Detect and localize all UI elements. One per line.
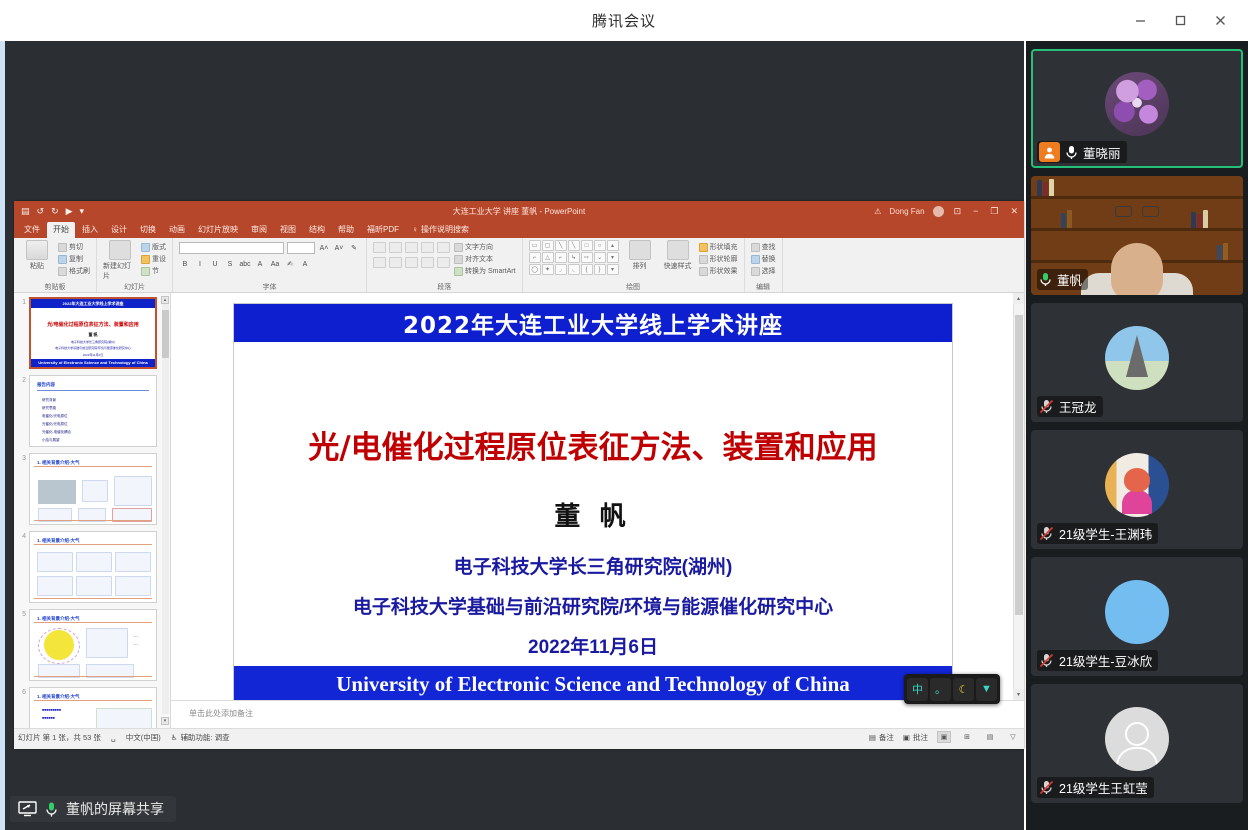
decrease-font-size-icon[interactable]: A˅ — [333, 242, 345, 254]
find-button[interactable]: 查找 — [751, 242, 776, 252]
cut-button[interactable]: 剪切 — [58, 242, 90, 252]
participant-name-row: 21级学生-豆冰欣 — [1037, 650, 1158, 671]
thumb-heading: 报告内容 — [37, 382, 55, 388]
font-color-button[interactable]: A — [299, 258, 311, 270]
tray-button[interactable]: ▼ — [976, 678, 997, 701]
slide-count-label: 幻灯片 第 1 张，共 53 张 — [18, 732, 101, 743]
shape-scroll-down-icon[interactable]: ▾ — [607, 252, 619, 263]
close-icon[interactable] — [1200, 4, 1240, 38]
align-left-icon[interactable] — [373, 257, 386, 268]
shape-circle-icon[interactable]: ◯ — [529, 264, 541, 275]
thumb-author: 董 帆 — [31, 332, 155, 338]
slide-thumbnail-5[interactable]: 1. 相关背景介绍-大气 --- --- — [29, 609, 157, 681]
tab-animations[interactable]: 动画 — [163, 222, 191, 238]
justify-icon[interactable] — [421, 257, 434, 268]
slide-affiliation-1[interactable]: 电子科技大学长三角研究院(湖州) — [234, 552, 952, 579]
glasses-icon — [1115, 206, 1159, 217]
comments-button[interactable]: ▣ 批注 — [903, 732, 928, 743]
slide-thumbnail-3[interactable]: 1. 相关背景介绍-大气 — [29, 453, 157, 525]
slide-thumbnail-6[interactable]: 1. 相关背景介绍-大气 ■■■■■■■■■ ■■■■■■ ■■■■■■■ — [29, 687, 157, 728]
thumb-affiliation-2: 电子科技大学基础与前沿研究院/环境与能源催化研究中心 — [31, 346, 155, 350]
slide-number: 5 — [16, 609, 26, 618]
powerpoint-document-title: 大连工业大学 讲座 董帆 - PowerPoint — [14, 206, 1024, 217]
clear-formatting-icon[interactable]: ✎ — [348, 242, 360, 254]
shape-square-icon[interactable]: □ — [581, 240, 593, 251]
scroll-up-arrow-icon[interactable]: ▴ — [1013, 293, 1024, 304]
participant-name-row: 董晓丽 — [1037, 141, 1127, 163]
tab-foxit-pdf[interactable]: 福昕PDF — [361, 222, 405, 238]
convert-smartart-button[interactable]: 转换为 SmartArt — [454, 266, 516, 276]
line-spacing-icon[interactable] — [437, 242, 450, 253]
ime-toolbar[interactable]: 中 。 ☾ ▼ — [904, 674, 1000, 704]
microphone-muted-icon — [1039, 399, 1054, 414]
tell-me-search[interactable]: ♀ 操作说明搜索 — [406, 222, 475, 238]
new-slide-icon — [109, 240, 131, 260]
ribbon-tabs: 文件 开始 插入 设计 切换 动画 幻灯片放映 审阅 视图 结构 帮助 福昕PD… — [14, 221, 1024, 238]
section-icon — [141, 267, 150, 276]
powerpoint-titlebar: ▤ ↺ ↻ ▶ ▾ 大连工业大学 讲座 董帆 - PowerPoint ⚠ Do… — [14, 201, 1024, 221]
copy-icon — [58, 255, 67, 264]
save-icon[interactable]: ▤ — [21, 206, 30, 217]
participant-tile-3[interactable]: 21级学生-王渊玮 — [1031, 430, 1243, 549]
accessibility-icon: ♿ — [171, 733, 178, 742]
shape-chevron-icon[interactable]: ⌄ — [594, 252, 606, 263]
slide-number: 1 — [16, 297, 26, 306]
paste-button[interactable]: 粘贴 — [20, 240, 54, 271]
ribbon-group-paragraph: 文字方向 对齐文本 转换为 SmartArt 段落 — [367, 238, 523, 292]
quick-styles-button[interactable]: 快速样式 — [661, 240, 695, 271]
copy-button[interactable]: 复制 — [58, 254, 90, 264]
shape-arc-icon[interactable]: ◟ — [568, 264, 580, 275]
powerpoint-body: 1 2022年大连工业大学线上学术讲座 光/电催化过程原位表征方法、装置和应用 … — [14, 293, 1024, 728]
tab-insert[interactable]: 插入 — [76, 222, 104, 238]
shape-brace-right-icon[interactable]: } — [594, 264, 606, 275]
tab-help[interactable]: 帮助 — [332, 222, 360, 238]
ribbon-group-font: A˄ A˅ ✎ B I U S abc A Aa — [173, 238, 367, 292]
select-button[interactable]: 选择 — [751, 266, 776, 276]
notes-placeholder[interactable]: 单击此处添加备注 — [171, 700, 1024, 728]
thumb-affiliation-1: 电子科技大学长三角研究院(湖州) — [31, 340, 155, 344]
slide-sorter-icon[interactable]: ⊞ — [960, 731, 974, 743]
shape-more-icon[interactable]: ▾ — [607, 264, 619, 275]
participant-name: 董晓丽 — [1083, 143, 1121, 162]
thumb-line: 小结与展望 — [42, 438, 60, 443]
powerpoint-titlebar-right: ⚠ Dong Fan ⊡ − ❐ ✕ — [874, 206, 1020, 217]
increase-font-size-icon[interactable]: A˄ — [318, 242, 330, 254]
notes-icon: ▤ — [869, 733, 876, 742]
shape-arrow-icon[interactable]: ╲ — [568, 240, 580, 251]
search-icon — [751, 243, 760, 252]
app-title: 腾讯会议 — [592, 10, 656, 31]
format-painter-button[interactable]: 格式刷 — [58, 266, 90, 276]
participant-name: 董帆 — [1057, 270, 1082, 289]
avatar — [1105, 707, 1169, 771]
warning-icon: ⚠ — [874, 207, 881, 216]
columns-icon[interactable] — [437, 257, 450, 268]
ribbon-group-label: 剪贴板 — [14, 282, 96, 292]
avatar — [1105, 326, 1169, 390]
align-center-icon[interactable] — [389, 257, 402, 268]
participant-tile-5[interactable]: 21级学生王虹莹 — [1031, 684, 1243, 803]
shape-bracket-icon[interactable]: ⌐ — [555, 252, 567, 263]
ribbon-group-label: 绘图 — [523, 282, 744, 292]
participant-name: 王冠龙 — [1059, 397, 1097, 416]
align-text-button[interactable]: 对齐文本 — [454, 254, 516, 264]
participant-name-row: 董帆 — [1037, 269, 1088, 290]
minimize-icon[interactable]: − — [971, 206, 980, 216]
scroll-down-arrow-icon[interactable]: ▾ — [161, 717, 169, 725]
paste-icon — [26, 240, 48, 260]
participant-tile-2[interactable]: 王冠龙 — [1031, 303, 1243, 422]
replace-icon — [751, 255, 760, 264]
reading-view-icon[interactable]: ▤ — [983, 731, 997, 743]
shape-rect-icon[interactable]: ▭ — [529, 240, 541, 251]
underline-button[interactable]: U — [209, 258, 221, 270]
shape-scroll-up-icon[interactable]: ▴ — [607, 240, 619, 251]
lightbulb-icon: ♀ — [412, 225, 418, 234]
maximize-icon[interactable] — [1160, 4, 1200, 38]
thumbnail-row[interactable]: 2 报告内容 研究背景 研究思路 电催化/光电原位 光催化/光电原位 光催化-电… — [16, 375, 168, 447]
slide-date[interactable]: 2022年11月6日 — [234, 632, 952, 659]
arrange-icon — [629, 240, 651, 260]
window-controls — [1120, 0, 1240, 41]
participant-tile-1[interactable]: 董帆 — [1031, 176, 1243, 295]
host-badge — [1039, 142, 1060, 162]
thumb-banner-bottom: University of Electronic Science and Tec… — [31, 359, 155, 367]
shared-screen-stage: ▤ ↺ ↻ ▶ ▾ 大连工业大学 讲座 董帆 - PowerPoint ⚠ Do… — [5, 41, 1024, 830]
microphone-muted-icon — [1039, 526, 1054, 541]
thumb-line: 研究思路 — [42, 406, 56, 411]
powerpoint-window: ▤ ↺ ↻ ▶ ▾ 大连工业大学 讲座 董帆 - PowerPoint ⚠ Do… — [14, 201, 1024, 749]
microphone-on-icon — [1039, 272, 1052, 287]
slide-banner-bottom: University of Electronic Science and Tec… — [234, 666, 952, 702]
new-slide-button[interactable]: 新建幻灯片 — [103, 240, 137, 281]
thumb-line: 电催化/光电原位 — [42, 414, 67, 419]
ribbon: 粘贴 剪切 复制 格式刷 剪贴板 — [14, 238, 1024, 293]
shape-outline-icon — [699, 255, 708, 264]
slide-author-text[interactable]: 董 帆 — [234, 496, 952, 533]
screen-share-badge: 董帆的屏幕共享 — [10, 796, 176, 822]
punctuation-mode-button[interactable]: 。 — [930, 678, 951, 701]
participant-tile-4[interactable]: 21级学生-豆冰欣 — [1031, 557, 1243, 676]
slide-thumbnail-1[interactable]: 2022年大连工业大学线上学术讲座 光/电催化过程原位表征方法、装置和应用 董 … — [29, 297, 157, 369]
restore-icon[interactable]: ❐ — [988, 206, 1000, 217]
shape-corner-icon[interactable]: ⌐ — [529, 252, 541, 263]
participant-name-row: 21级学生王虹莹 — [1037, 777, 1154, 798]
undo-icon[interactable]: ↺ — [37, 206, 45, 217]
spellcheck-icon[interactable]: ␣ — [111, 733, 116, 742]
slide-number: 4 — [16, 531, 26, 540]
increase-indent-icon[interactable] — [421, 242, 434, 253]
notes-button[interactable]: ▤ 备注 — [869, 732, 894, 743]
tab-file[interactable]: 文件 — [18, 222, 46, 238]
shape-curve-icon[interactable]: ◞ — [555, 264, 567, 275]
shape-bent-arrow-icon[interactable]: ↳ — [568, 252, 580, 263]
ribbon-group-label: 幻灯片 — [97, 282, 172, 292]
tab-view[interactable]: 视图 — [274, 222, 302, 238]
shadow-button[interactable]: S — [224, 258, 236, 270]
slide-thumbnail-4[interactable]: 1. 相关背景介绍-大气 — [29, 531, 157, 603]
slide-pane-scrollbar[interactable] — [1013, 293, 1024, 700]
tab-slideshow[interactable]: 幻灯片放映 — [192, 222, 244, 238]
screen-share-icon — [18, 801, 37, 817]
slide-title-text[interactable]: 光/电催化过程原位表征方法、装置和应用 — [234, 422, 952, 467]
thumbnail-row[interactable]: 1 2022年大连工业大学线上学术讲座 光/电催化过程原位表征方法、装置和应用 … — [16, 297, 168, 369]
shape-effects-button[interactable]: 形状效果 — [699, 266, 738, 276]
account-name[interactable]: Dong Fan — [889, 207, 924, 216]
participant-name: 21级学生王虹莹 — [1059, 778, 1148, 797]
slide-thumbnail-panel[interactable]: 1 2022年大连工业大学线上学术讲座 光/电催化过程原位表征方法、装置和应用 … — [14, 293, 171, 728]
slide-number: 3 — [16, 453, 26, 462]
shape-line-icon[interactable]: ╲ — [555, 240, 567, 251]
shape-right-arrow-icon[interactable]: ⇨ — [581, 252, 593, 263]
shape-triangle-icon[interactable]: △ — [542, 252, 554, 263]
ribbon-group-drawing: ▭ ▢ ╲ ╲ □ ○ ▴ ⌐ △ ⌐ ↳ ⇨ ⌄ — [523, 238, 745, 292]
start-slideshow-icon[interactable]: ▶ — [66, 206, 73, 217]
microphone-on-icon — [44, 801, 59, 818]
smartart-icon — [454, 267, 463, 276]
character-spacing-button[interactable]: A — [254, 258, 266, 270]
tab-design[interactable]: 设计 — [105, 222, 133, 238]
shape-rounded-icon[interactable]: ▢ — [542, 240, 554, 251]
ribbon-group-editing: 查找 替换 选择 编辑 — [745, 238, 783, 292]
window-titlebar: 腾讯会议 — [0, 0, 1248, 41]
ribbon-group-slides: 新建幻灯片 版式 重设 节 幻灯片 — [97, 238, 173, 292]
avatar — [1105, 72, 1169, 136]
replace-button[interactable]: 替换 — [751, 254, 776, 264]
align-text-icon — [454, 255, 463, 264]
screen-share-label: 董帆的屏幕共享 — [66, 799, 164, 819]
tab-structure[interactable]: 结构 — [303, 222, 331, 238]
slide-banner-top: 2022年大连工业大学线上学术讲座 — [234, 304, 952, 342]
microphone-on-icon — [1065, 145, 1078, 160]
avatar — [1105, 453, 1169, 517]
layout-icon — [141, 243, 150, 252]
quick-access-toolbar: ▤ ↺ ↻ ▶ ▾ — [14, 206, 84, 217]
thumb-banner-top: 2022年大连工业大学线上学术讲座 — [31, 299, 155, 308]
thumb-line: 光催化-电催化耦合 — [42, 430, 71, 435]
ribbon-display-options-icon[interactable]: ⊡ — [952, 206, 964, 217]
thumb-title: 光/电催化过程原位表征方法、装置和应用 — [31, 321, 155, 328]
participant-name: 21级学生-王渊玮 — [1059, 524, 1152, 543]
slide-editing-pane[interactable]: 2022年大连工业大学线上学术讲座 光/电催化过程原位表征方法、装置和应用 董 … — [171, 293, 1024, 728]
font-name-input[interactable] — [179, 242, 284, 254]
text-direction-icon — [454, 243, 463, 252]
numbering-icon[interactable] — [389, 242, 402, 253]
thumb-line: 研究背景 — [42, 398, 56, 403]
slide-thumbnail-2[interactable]: 报告内容 研究背景 研究思路 电催化/光电原位 光催化/光电原位 光催化-电催化… — [29, 375, 157, 447]
bold-button[interactable]: B — [179, 258, 191, 270]
comment-icon: ▣ — [903, 733, 910, 742]
section-button[interactable]: 节 — [141, 266, 166, 276]
thumbnail-row[interactable]: 4 1. 相关背景介绍-大气 — [16, 531, 168, 603]
shape-fill-button[interactable]: 形状填充 — [699, 242, 738, 252]
text-highlight-button[interactable]: ✍ — [284, 258, 296, 270]
slide-number: 2 — [16, 375, 26, 384]
redo-icon[interactable]: ↻ — [51, 206, 59, 217]
current-slide[interactable]: 2022年大连工业大学线上学术讲座 光/电催化过程原位表征方法、装置和应用 董 … — [233, 303, 953, 703]
avatar[interactable] — [933, 206, 944, 217]
participant-rail: 董晓丽 — [1026, 41, 1248, 830]
normal-view-icon[interactable]: ▣ — [937, 731, 951, 743]
text-direction-button[interactable]: 文字方向 — [454, 242, 516, 252]
change-case-button[interactable]: Aa — [269, 258, 281, 270]
thumbnail-row[interactable]: 6 1. 相关背景介绍-大气 ■■■■■■■■■ ■■■■■■ ■■■■■■■ — [16, 687, 168, 728]
chinese-mode-button[interactable]: 中 — [907, 678, 928, 701]
slide-banner-top-text: 2022年大连工业大学线上学术讲座 — [403, 306, 783, 340]
select-icon — [751, 267, 760, 276]
participant-name: 21级学生-豆冰欣 — [1059, 651, 1152, 670]
reset-icon — [141, 255, 150, 264]
reset-button[interactable]: 重设 — [141, 254, 166, 264]
layout-button[interactable]: 版式 — [141, 242, 166, 252]
slideshow-icon[interactable]: ▽ — [1006, 731, 1020, 743]
participant-tile-0[interactable]: 董晓丽 — [1031, 49, 1243, 168]
shape-fill-icon — [699, 243, 708, 252]
meeting-window: 腾讯会议 ▤ ↺ ↻ ▶ ▾ — [0, 0, 1248, 830]
decrease-indent-icon[interactable] — [405, 242, 418, 253]
tab-home[interactable]: 开始 — [47, 222, 75, 238]
arrange-button[interactable]: 排列 — [623, 240, 657, 271]
align-right-icon[interactable] — [405, 257, 418, 268]
thumbnail-row[interactable]: 5 1. 相关背景介绍-大气 --- --- — [16, 609, 168, 681]
moon-button[interactable]: ☾ — [953, 678, 974, 701]
shape-oval-icon[interactable]: ○ — [594, 240, 606, 251]
avatar — [1105, 580, 1169, 644]
slide-banner-bottom-text: University of Electronic Science and Tec… — [336, 672, 850, 697]
status-bar-right: ▤ 备注 ▣ 批注 ▣ ⊞ ▤ ▽ — [869, 731, 1020, 743]
scroll-down-arrow-icon[interactable]: ▾ — [1013, 689, 1024, 700]
thumb-line: 光催化/光电原位 — [42, 422, 67, 427]
ribbon-group-label: 字体 — [173, 282, 366, 292]
scroll-up-arrow-icon[interactable]: ▴ — [161, 296, 169, 304]
thumb-date: 2022年11月6日 — [31, 353, 155, 357]
ribbon-group-clipboard: 粘贴 剪切 复制 格式刷 剪贴板 — [14, 238, 97, 292]
microphone-muted-icon — [1039, 653, 1054, 668]
ribbon-group-label: 编辑 — [745, 282, 782, 292]
accessibility-label[interactable]: ♿ 辅助功能: 调查 — [171, 732, 230, 743]
powerpoint-status-bar: 幻灯片 第 1 张，共 53 张 ␣ 中文(中国) ♿ 辅助功能: 调查 ▤ 备… — [14, 728, 1024, 745]
quick-styles-icon — [667, 240, 689, 260]
slide-affiliation-2[interactable]: 电子科技大学基础与前沿研究院/环境与能源催化研究中心 — [234, 592, 952, 619]
font-size-input[interactable] — [287, 242, 315, 254]
paintbrush-icon — [58, 267, 67, 276]
shape-gallery[interactable]: ▭ ▢ ╲ ╲ □ ○ ▴ ⌐ △ ⌐ ↳ ⇨ ⌄ — [529, 240, 619, 275]
thumbnail-scrollbar[interactable] — [162, 296, 169, 714]
shape-star-icon[interactable]: ✦ — [542, 264, 554, 275]
ribbon-group-label: 段落 — [367, 282, 522, 292]
slide-number: 6 — [16, 687, 26, 696]
shape-brace-left-icon[interactable]: { — [581, 264, 593, 275]
close-icon[interactable]: ✕ — [1008, 206, 1020, 217]
microphone-muted-icon — [1039, 780, 1054, 795]
italic-button[interactable]: I — [194, 258, 206, 270]
strikethrough-button[interactable]: abc — [239, 258, 251, 270]
customize-qat-icon[interactable]: ▾ — [80, 206, 85, 217]
scissors-icon — [58, 243, 67, 252]
participant-name-row: 21级学生-王渊玮 — [1037, 523, 1158, 544]
participant-name-row: 王冠龙 — [1037, 396, 1103, 417]
tab-transitions[interactable]: 切换 — [134, 222, 162, 238]
bullets-icon[interactable] — [373, 242, 386, 253]
tab-review[interactable]: 审阅 — [245, 222, 273, 238]
shape-effects-icon — [699, 267, 708, 276]
minimize-icon[interactable] — [1120, 4, 1160, 38]
thumbnail-row[interactable]: 3 1. 相关背景介绍-大气 — [16, 453, 168, 525]
language-label[interactable]: 中文(中国) — [126, 732, 161, 743]
shape-outline-button[interactable]: 形状轮廓 — [699, 254, 738, 264]
